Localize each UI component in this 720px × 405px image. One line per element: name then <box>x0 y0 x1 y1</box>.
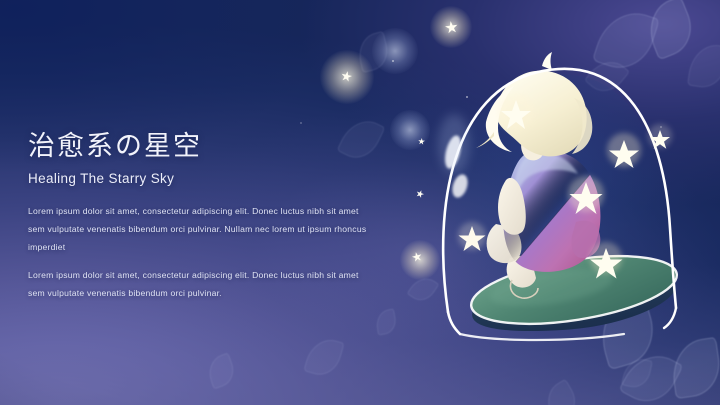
vignette-overlay <box>0 0 720 405</box>
slide-canvas: 治愈系の星空 Healing The Starry Sky Lorem ipsu… <box>0 0 720 405</box>
